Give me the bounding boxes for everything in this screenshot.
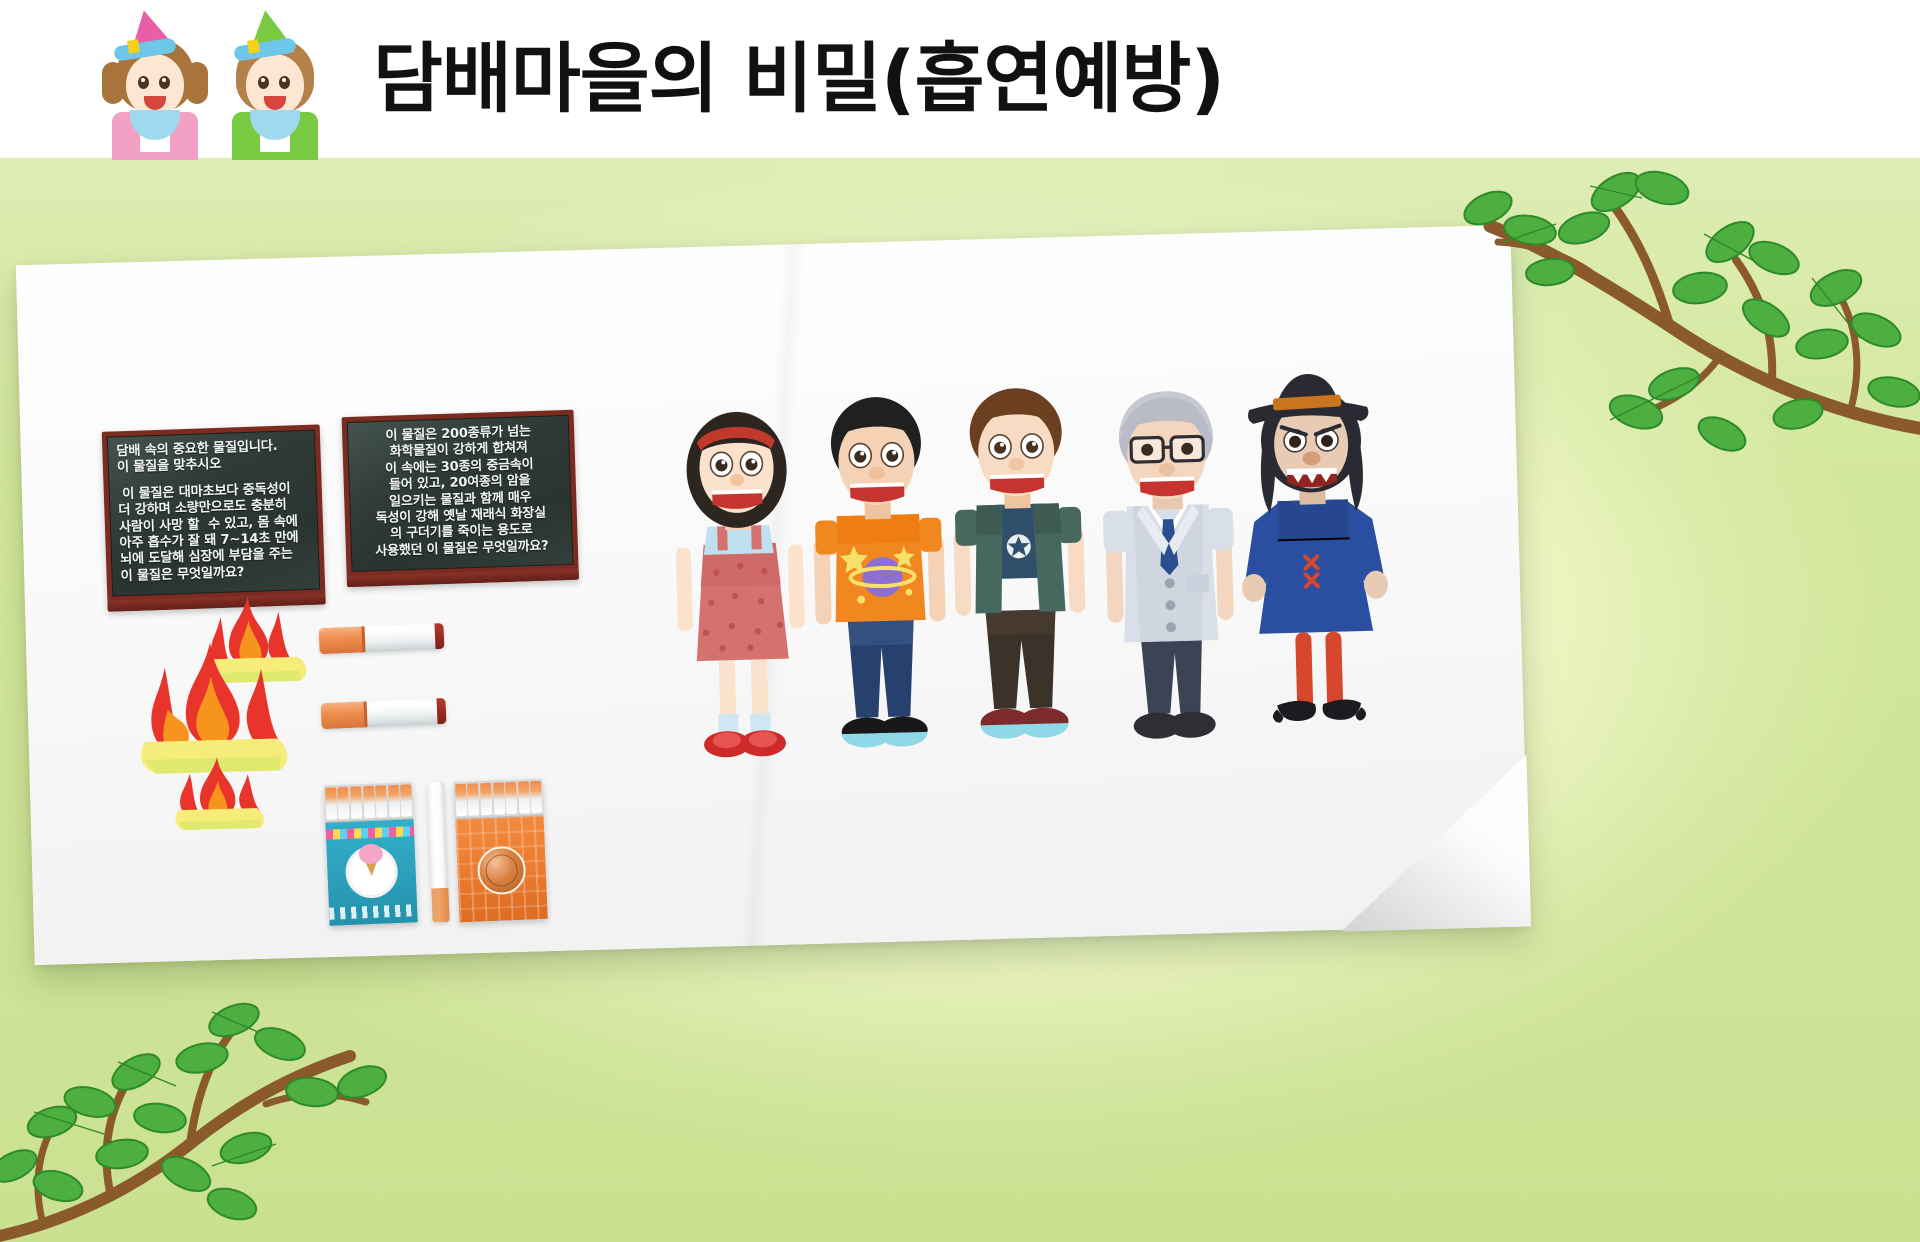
paper-inner: 담배 속의 중요한 물질입니다. 이 물질을 맞추시오 이 물질은 대마초보다 …	[16, 225, 1529, 965]
character-grandpa-lab-coat	[1089, 377, 1250, 781]
eye-left	[258, 76, 269, 89]
pack-cigarette	[363, 786, 375, 818]
eye-right	[279, 76, 290, 89]
cigarette-band	[364, 701, 368, 727]
tree-branch-top-right	[1370, 130, 1920, 460]
eye-left	[138, 76, 149, 89]
pack-open-top	[454, 779, 543, 820]
pack-cigarette	[325, 787, 337, 819]
pack-cigarette	[375, 785, 387, 817]
pack-cigarette	[388, 785, 400, 817]
pack-cigarette	[400, 784, 412, 816]
page-title: 담배마을의 비밀(흡연예방)	[373, 41, 1224, 117]
cigarette-burning-tip	[434, 623, 444, 649]
cigarette-pack-orange	[454, 779, 548, 922]
tree-branch-bottom-left	[0, 952, 460, 1242]
fire-flame-bottom	[169, 754, 271, 839]
pack-cigarette	[493, 782, 505, 814]
pack-cigarette	[518, 781, 530, 813]
cigarette-burning-tip	[436, 698, 446, 724]
pack-cigarette	[530, 781, 542, 813]
pack-open-top	[324, 782, 413, 823]
board-face: 이 물질은 200종류가 넘는 화학물질이 강하게 합쳐져 이 속에는 30종의…	[347, 415, 574, 572]
boy-mascot-icon	[220, 10, 330, 150]
cigarette-filter	[321, 701, 367, 729]
eye-right	[159, 76, 170, 89]
character-boy-green-vest	[939, 376, 1100, 780]
character-girl-red-dress	[660, 394, 821, 798]
pack-cigarette	[505, 782, 517, 814]
cigarette-pack-blue	[324, 782, 418, 925]
paper-sheet: 담배 속의 중요한 물질입니다. 이 물질을 맞추시오 이 물질은 대마초보다 …	[16, 225, 1529, 965]
pack-cigarette	[337, 787, 349, 819]
pack-cigarette	[455, 784, 467, 816]
board-face: 담배 속의 중요한 물질입니다. 이 물질을 맞추시오 이 물질은 대마초보다 …	[107, 430, 320, 597]
hat-emblem	[247, 39, 260, 54]
girl-mascot-icon	[100, 10, 210, 150]
cigarette-filter	[319, 626, 365, 654]
quiz-board-tar: 이 물질은 200종류가 넘는 화학물질이 강하게 합쳐져 이 속에는 30종의…	[342, 410, 579, 588]
hat-emblem	[127, 39, 140, 54]
cigarette-stick-2	[321, 698, 447, 729]
cigarette-band	[362, 626, 366, 652]
pack-cigarette	[467, 783, 479, 815]
cigarette-stick-1	[319, 623, 445, 654]
title-mascots	[100, 4, 355, 154]
pack-cigarette	[480, 783, 492, 815]
pack-cigarette	[350, 786, 362, 818]
quiz-board-nicotine: 담배 속의 중요한 물질입니다. 이 물질을 맞추시오 이 물질은 대마초보다 …	[102, 424, 326, 612]
title-bar: 담배마을의 비밀(흡연예방)	[0, 0, 1920, 158]
character-boy-orange-shirt	[799, 385, 960, 789]
